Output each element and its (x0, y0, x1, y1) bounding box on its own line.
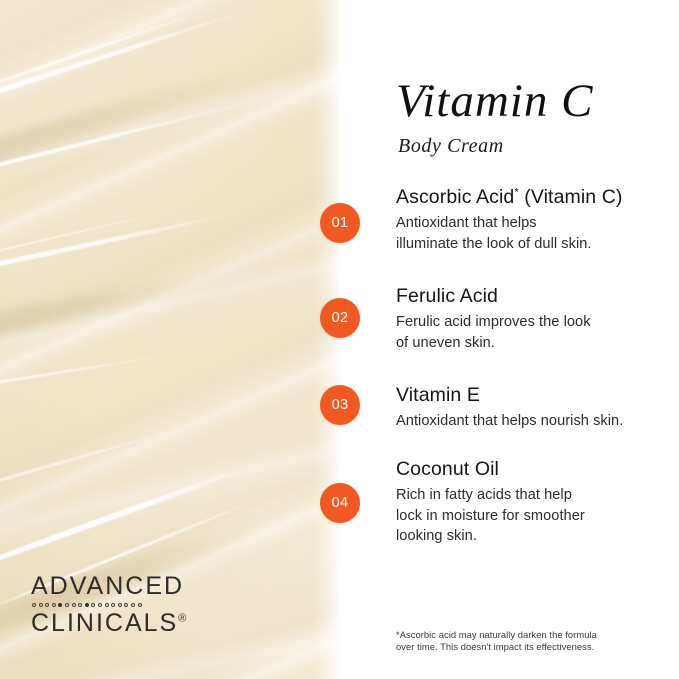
ingredient-badge-02: 02 (320, 298, 360, 338)
ingredient-item-02: Ferulic Acid Ferulic acid improves the l… (396, 285, 668, 353)
ingredient-title-04: Coconut Oil (396, 458, 668, 481)
cream-texture-photo: ADVANCED CLINICALS® (0, 0, 340, 679)
content-panel: Vitamin C Body Cream Ascorbic Acid* (Vit… (340, 0, 679, 679)
registered-trademark-mark: ® (178, 612, 186, 624)
ingredient-title-01: Ascorbic Acid* (Vitamin C) (396, 186, 668, 209)
ingredient-desc-line: lock in moisture for smoother (396, 506, 668, 527)
ingredient-desc-line: looking skin. (396, 526, 668, 547)
ingredient-title-03: Vitamin E (396, 384, 668, 407)
ingredient-name-suffix-01: (Vitamin C) (519, 186, 623, 208)
brand-logo-line2-text: CLINICALS (31, 609, 178, 637)
brand-logo-line2: CLINICALS® (31, 611, 186, 637)
ingredient-badge-04: 04 (320, 483, 360, 523)
ingredient-name-01: Ascorbic Acid (396, 186, 514, 208)
ingredient-description-04: Rich in fatty acids that help lock in mo… (396, 485, 668, 547)
ingredient-desc-line: illuminate the look of dull skin. (396, 234, 668, 255)
brand-logo-line1: ADVANCED (31, 574, 186, 600)
ingredient-description-02: Ferulic acid improves the look of uneven… (396, 312, 668, 353)
ingredient-description-03: Antioxidant that helps nourish skin. (396, 411, 668, 432)
footnote-line-2: over time. This doesn't impact its effec… (396, 641, 636, 653)
ingredient-desc-line: of uneven skin. (396, 333, 668, 354)
ingredient-item-04: Coconut Oil Rich in fatty acids that hel… (396, 458, 668, 547)
product-infographic: ADVANCED CLINICALS® Vitamin C Body Cream… (0, 0, 679, 679)
product-subtitle: Body Cream (398, 136, 504, 156)
brand-logo: ADVANCED CLINICALS® (31, 574, 186, 636)
footnote: *Ascorbic acid may naturally darken the … (396, 629, 636, 654)
ingredient-desc-line: Rich in fatty acids that help (396, 485, 668, 506)
product-title: Vitamin C (396, 78, 593, 125)
ingredient-desc-line: Antioxidant that helps nourish skin. (396, 411, 668, 432)
ingredient-item-03: Vitamin E Antioxidant that helps nourish… (396, 384, 668, 432)
ingredient-badge-03: 03 (320, 385, 360, 425)
ingredient-desc-line: Antioxidant that helps (396, 213, 668, 234)
footnote-line-1: *Ascorbic acid may naturally darken the … (396, 629, 636, 641)
ingredient-description-01: Antioxidant that helps illuminate the lo… (396, 213, 668, 254)
ingredient-title-02: Ferulic Acid (396, 285, 668, 308)
ingredient-badge-01: 01 (320, 203, 360, 243)
photo-edge-fade (314, 0, 340, 679)
ingredient-item-01: Ascorbic Acid* (Vitamin C) Antioxidant t… (396, 186, 668, 254)
ingredient-desc-line: Ferulic acid improves the look (396, 312, 668, 333)
